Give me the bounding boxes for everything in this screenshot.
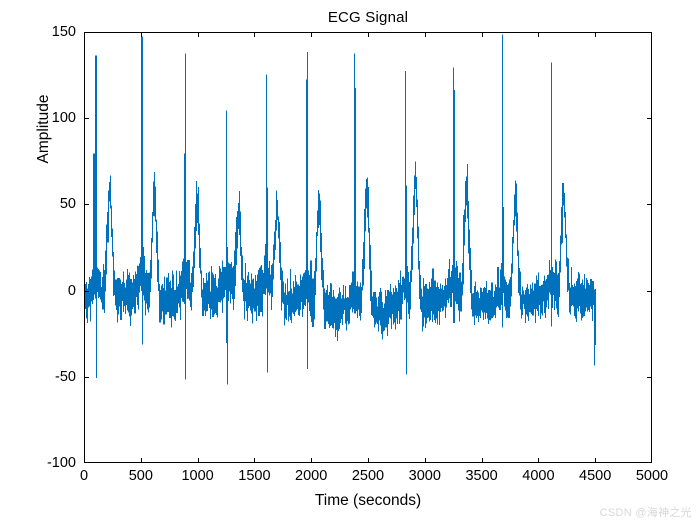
axis-tick [311, 458, 312, 463]
y-tick-label: 150 [16, 24, 76, 40]
axis-tick [482, 458, 483, 463]
axis-tick [647, 291, 652, 292]
matlab-figure: ECG Signal Amplitude Time (seconds) 0500… [0, 0, 700, 525]
axis-tick [84, 291, 89, 292]
axis-tick [198, 458, 199, 463]
watermark: CSDN @海神之光 [600, 504, 692, 520]
y-axis-label: Amplitude [35, 39, 53, 219]
axis-tick [198, 32, 199, 37]
axis-tick [141, 32, 142, 37]
axis-tick [647, 377, 652, 378]
x-tick-label: 2500 [352, 468, 384, 484]
axis-tick [254, 458, 255, 463]
axis-tick [647, 118, 652, 119]
x-tick-label: 1500 [238, 468, 270, 484]
axis-tick [368, 32, 369, 37]
axis-tick [482, 32, 483, 37]
x-tick-label: 3500 [465, 468, 497, 484]
x-axis-label: Time (seconds) [84, 492, 652, 510]
x-tick-label: 2000 [295, 468, 327, 484]
axis-tick [538, 32, 539, 37]
axis-tick [141, 458, 142, 463]
x-tick-label: 4500 [579, 468, 611, 484]
axis-tick [425, 32, 426, 37]
x-tick-label: 0 [80, 468, 88, 484]
y-tick-label: -100 [16, 455, 76, 471]
axis-tick [84, 204, 89, 205]
ecg-signal-plot [85, 33, 652, 463]
page-title: ECG Signal [84, 9, 652, 26]
axis-tick [595, 458, 596, 463]
y-tick-label: 0 [16, 283, 76, 299]
axis-tick [425, 458, 426, 463]
plot-area [84, 32, 652, 463]
y-tick-label: 100 [16, 110, 76, 126]
axis-tick [84, 377, 89, 378]
ecg-trace [86, 35, 596, 385]
axis-tick [538, 458, 539, 463]
x-tick-label: 3000 [409, 468, 441, 484]
x-tick-label: 5000 [636, 468, 668, 484]
x-tick-label: 4000 [522, 468, 554, 484]
y-tick-label: 50 [16, 196, 76, 212]
x-tick-label: 1000 [181, 468, 213, 484]
axis-tick [647, 204, 652, 205]
x-tick-label: 500 [129, 468, 153, 484]
y-tick-label: -50 [16, 369, 76, 385]
axis-tick [595, 32, 596, 37]
axis-tick [368, 458, 369, 463]
axis-tick [311, 32, 312, 37]
axis-tick [254, 32, 255, 37]
axis-tick [84, 118, 89, 119]
